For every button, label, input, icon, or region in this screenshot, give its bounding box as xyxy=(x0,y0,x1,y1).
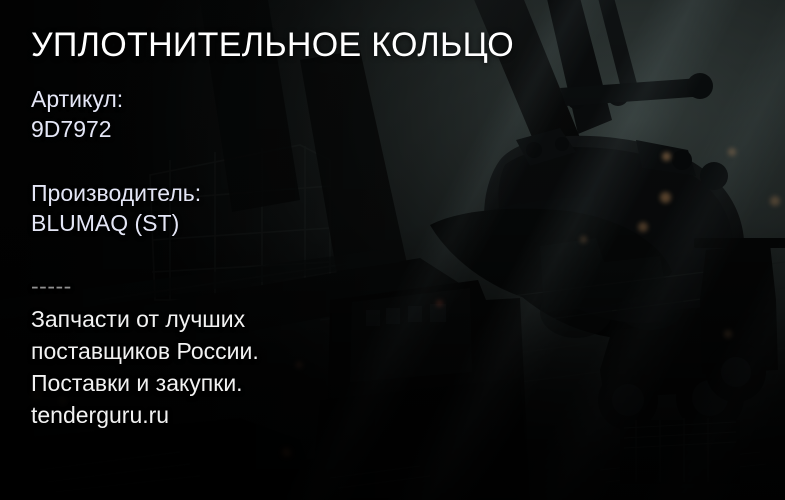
bokeh-light xyxy=(770,196,780,206)
promo-block: Запчасти от лучших поставщиков России. П… xyxy=(31,303,259,431)
manufacturer-label: Производитель: xyxy=(31,180,201,206)
text-content-block: УПЛОТНИТЕЛЬНОЕ КОЛЬЦО Артикул: 9D7972 Пр… xyxy=(31,0,551,500)
product-banner: УПЛОТНИТЕЛЬНОЕ КОЛЬЦО Артикул: 9D7972 Пр… xyxy=(0,0,785,500)
manufacturer-value: BLUMAQ (ST) xyxy=(31,208,201,238)
text-divider: ----- xyxy=(31,271,72,301)
article-label: Артикул: xyxy=(31,86,123,112)
article-field: Артикул: 9D7972 xyxy=(31,84,123,144)
promo-line-3: Поставки и закупки. xyxy=(31,367,259,399)
manufacturer-field: Производитель: BLUMAQ (ST) xyxy=(31,178,201,238)
bokeh-light xyxy=(728,148,736,156)
promo-line-1: Запчасти от лучших xyxy=(31,303,259,335)
bokeh-light xyxy=(662,152,671,161)
promo-line-2: поставщиков России. xyxy=(31,335,259,367)
bokeh-light xyxy=(724,330,732,338)
bokeh-light xyxy=(638,222,648,232)
bokeh-light xyxy=(660,192,671,203)
bokeh-light xyxy=(580,236,587,243)
page-title: УПЛОТНИТЕЛЬНОЕ КОЛЬЦО xyxy=(31,25,514,65)
promo-site-url: tenderguru.ru xyxy=(31,399,259,431)
article-value: 9D7972 xyxy=(31,114,123,144)
